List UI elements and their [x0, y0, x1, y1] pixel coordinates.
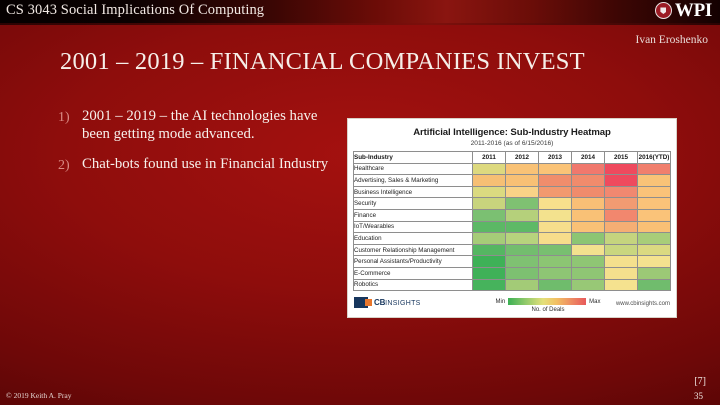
slide-title: 2001 – 2019 – FINANCIAL COMPANIES INVEST	[60, 48, 680, 76]
heatmap-table: Sub-Industry 201120122013201420152016(YT…	[353, 151, 671, 291]
column-header-2015: 2015	[605, 152, 638, 164]
table-row: Robotics	[354, 279, 671, 291]
row-label: Customer Relationship Management	[354, 244, 473, 256]
row-label: Robotics	[354, 279, 473, 291]
heatmap-body: HealthcareAdvertising, Sales & Marketing…	[354, 163, 671, 291]
table-row: Finance	[354, 209, 671, 221]
page-number: 35	[694, 391, 703, 401]
table-row: Customer Relationship Management	[354, 244, 671, 256]
presenter-name: Ivan Eroshenko	[636, 34, 709, 46]
heatmap-cell	[473, 163, 506, 175]
heatmap-cell	[572, 198, 605, 210]
heatmap-cell	[539, 267, 572, 279]
heatmap-cell	[539, 279, 572, 291]
table-row: Security	[354, 198, 671, 210]
table-row: Personal Assistants/Productivity	[354, 256, 671, 268]
heatmap-cell	[572, 209, 605, 221]
column-header-2016-ytd-: 2016(YTD)	[638, 152, 671, 164]
chart-subtitle: 2011-2016 (as of 6/15/2016)	[348, 140, 676, 147]
heatmap-cell	[473, 186, 506, 198]
heatmap-cell	[605, 163, 638, 175]
slide-canvas: CS 3043 Social Implications Of Computing…	[0, 0, 720, 405]
heatmap-cell	[539, 198, 572, 210]
heatmap-cell	[638, 233, 671, 245]
table-row: Advertising, Sales & Marketing	[354, 175, 671, 187]
heatmap-cell	[605, 244, 638, 256]
heatmap-cell	[605, 209, 638, 221]
heatmap-cell	[638, 267, 671, 279]
heatmap-cell	[572, 221, 605, 233]
table-row: Education	[354, 233, 671, 245]
source-url: www.cbinsights.com	[616, 301, 670, 307]
heatmap-cell	[539, 163, 572, 175]
heatmap-cell	[539, 233, 572, 245]
heatmap-cell	[638, 279, 671, 291]
heatmap-cell	[605, 256, 638, 268]
heatmap-cell	[638, 198, 671, 210]
heatmap-cell	[539, 186, 572, 198]
legend-row: Min Max	[488, 298, 608, 305]
heatmap-image: Artificial Intelligence: Sub-Industry He…	[347, 118, 677, 318]
bullet-text: Chat-bots found use in Financial Industr…	[82, 156, 343, 175]
heatmap-cell	[539, 256, 572, 268]
cb-text: CB	[374, 298, 385, 307]
heatmap-cell	[638, 163, 671, 175]
heatmap-cell	[572, 244, 605, 256]
insights-text: INSIGHTS	[385, 300, 420, 307]
bullet-number: 1)	[58, 108, 82, 143]
column-header-sub-industry: Sub-Industry	[354, 152, 473, 164]
heatmap-cell	[506, 175, 539, 187]
column-header-2014: 2014	[572, 152, 605, 164]
heatmap-cell	[638, 186, 671, 198]
reference-citation: [7]	[694, 376, 706, 387]
row-label: Healthcare	[354, 163, 473, 175]
heatmap-cell	[605, 221, 638, 233]
bullet-number: 2)	[58, 156, 82, 175]
table-row: Healthcare	[354, 163, 671, 175]
heatmap-cell	[473, 233, 506, 245]
heatmap-cell	[638, 175, 671, 187]
list-item: 1) 2001 – 2019 – the AI technologies hav…	[58, 108, 343, 143]
heatmap-cell	[539, 244, 572, 256]
header-divider	[0, 23, 720, 25]
heatmap-cell	[473, 209, 506, 221]
column-header-2012: 2012	[506, 152, 539, 164]
heatmap-cell	[605, 279, 638, 291]
table-row: IoT/Wearables	[354, 221, 671, 233]
wpi-seal-icon	[655, 2, 672, 19]
heatmap-cell	[605, 175, 638, 187]
cbinsights-logo: CBINSIGHTS	[354, 297, 421, 308]
heatmap-cell	[539, 175, 572, 187]
table-row: Business Intelligence	[354, 186, 671, 198]
heatmap-cell	[605, 186, 638, 198]
cbinsights-wordmark: CBINSIGHTS	[374, 298, 421, 307]
row-label: Education	[354, 233, 473, 245]
heatmap-cell	[473, 279, 506, 291]
color-legend: Min Max No. of Deals	[488, 298, 608, 313]
wpi-logo-text: WPI	[675, 1, 712, 20]
heatmap-cell	[572, 233, 605, 245]
row-label: Advertising, Sales & Marketing	[354, 175, 473, 187]
heatmap-cell	[572, 186, 605, 198]
row-label: Security	[354, 198, 473, 210]
heatmap-cell	[638, 209, 671, 221]
cbinsights-mark-icon	[354, 297, 368, 308]
chart-footer: CBINSIGHTS Min Max No. of Deals www.cbin…	[348, 294, 676, 318]
heatmap-cell	[572, 267, 605, 279]
heatmap-cell	[539, 209, 572, 221]
legend-gradient-bar	[508, 298, 586, 305]
heatmap-cell	[572, 279, 605, 291]
heatmap-cell	[506, 186, 539, 198]
heatmap-cell	[506, 221, 539, 233]
heatmap-cell	[506, 279, 539, 291]
table-header-row: Sub-Industry 201120122013201420152016(YT…	[354, 152, 671, 164]
heatmap-cell	[506, 267, 539, 279]
heatmap-cell	[605, 198, 638, 210]
row-label: IoT/Wearables	[354, 221, 473, 233]
heatmap-cell	[506, 209, 539, 221]
heatmap-cell	[473, 175, 506, 187]
heatmap-cell	[473, 256, 506, 268]
chart-title: Artificial Intelligence: Sub-Industry He…	[348, 127, 676, 138]
bullet-text: 2001 – 2019 – the AI technologies have b…	[82, 108, 343, 143]
heatmap-cell	[605, 267, 638, 279]
legend-min-label: Min	[495, 299, 505, 305]
heatmap-cell	[506, 163, 539, 175]
legend-max-label: Max	[589, 299, 600, 305]
heatmap-cell	[572, 163, 605, 175]
heatmap-cell	[605, 233, 638, 245]
row-label: Finance	[354, 209, 473, 221]
wpi-logo: WPI	[655, 1, 712, 20]
bullet-list: 1) 2001 – 2019 – the AI technologies hav…	[58, 108, 343, 188]
heatmap-cell	[506, 233, 539, 245]
heatmap-cell	[473, 244, 506, 256]
row-label: Personal Assistants/Productivity	[354, 256, 473, 268]
legend-caption: No. of Deals	[488, 307, 608, 313]
table-row: E-Commerce	[354, 267, 671, 279]
heatmap-cell	[473, 267, 506, 279]
row-label: Business Intelligence	[354, 186, 473, 198]
heatmap-cell	[506, 198, 539, 210]
copyright-notice: © 2019 Keith A. Pray	[6, 391, 72, 400]
column-header-2013: 2013	[539, 152, 572, 164]
heatmap-cell	[473, 198, 506, 210]
row-label: E-Commerce	[354, 267, 473, 279]
heatmap-cell	[638, 244, 671, 256]
heatmap-cell	[572, 175, 605, 187]
course-title: CS 3043 Social Implications Of Computing	[6, 2, 264, 19]
heatmap-cell	[572, 256, 605, 268]
heatmap-cell	[473, 221, 506, 233]
column-header-2011: 2011	[473, 152, 506, 164]
heatmap-cell	[506, 244, 539, 256]
heatmap-cell	[506, 256, 539, 268]
heatmap-cell	[539, 221, 572, 233]
heatmap-cell	[638, 256, 671, 268]
list-item: 2) Chat-bots found use in Financial Indu…	[58, 156, 343, 175]
heatmap-cell	[638, 221, 671, 233]
